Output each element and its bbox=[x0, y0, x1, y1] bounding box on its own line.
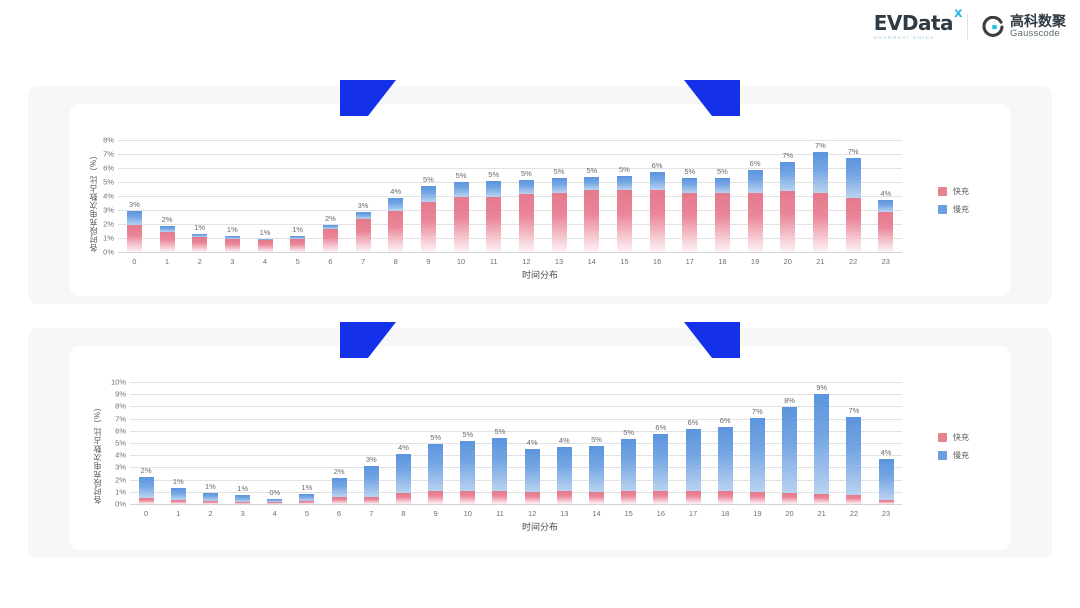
bar-segment-slow-charge[interactable] bbox=[525, 449, 540, 492]
bar-segment-slow-charge[interactable] bbox=[621, 439, 636, 491]
bar-segment-slow-charge[interactable] bbox=[486, 181, 501, 196]
bar-segment-fast-charge[interactable] bbox=[323, 229, 338, 252]
bar-segment-fast-charge[interactable] bbox=[621, 491, 636, 504]
bar-value-label: 2% bbox=[162, 215, 173, 224]
bar-segment-slow-charge[interactable] bbox=[428, 444, 443, 492]
bar-value-label: 5% bbox=[495, 427, 506, 436]
x-axis-tick: 7 bbox=[369, 509, 373, 518]
bar-value-label: 5% bbox=[430, 433, 441, 442]
bar-segment-fast-charge[interactable] bbox=[396, 493, 411, 504]
bar-segment-fast-charge[interactable] bbox=[653, 491, 668, 504]
bar-column[interactable]: 5%13 bbox=[543, 140, 576, 252]
bar-segment-slow-charge[interactable] bbox=[782, 407, 797, 493]
bar-value-label: 5% bbox=[684, 167, 695, 176]
x-axis-tick: 16 bbox=[657, 509, 665, 518]
bar-segment-fast-charge[interactable] bbox=[421, 202, 436, 252]
x-axis-tick: 21 bbox=[818, 509, 826, 518]
bar-segment-slow-charge[interactable] bbox=[589, 446, 604, 492]
bar-segment-slow-charge[interactable] bbox=[299, 494, 314, 501]
bar-stack[interactable] bbox=[682, 178, 697, 252]
bar-value-label: 5% bbox=[619, 165, 630, 174]
bar-segment-fast-charge[interactable] bbox=[879, 500, 894, 504]
bar-stack[interactable] bbox=[750, 418, 765, 504]
bar-column[interactable]: 4%23 bbox=[870, 382, 902, 504]
bar-stack[interactable] bbox=[267, 499, 282, 504]
bar-stack[interactable] bbox=[492, 438, 507, 504]
bar-column[interactable]: 1%4 bbox=[249, 140, 282, 252]
x-axis-tick: 6 bbox=[328, 257, 332, 266]
bar-segment-fast-charge[interactable] bbox=[356, 219, 371, 252]
bar-stack[interactable] bbox=[428, 444, 443, 504]
bar-stack[interactable] bbox=[356, 212, 371, 252]
bar-segment-slow-charge[interactable] bbox=[388, 198, 403, 211]
bar-segment-fast-charge[interactable] bbox=[364, 497, 379, 504]
x-axis-tick: 0 bbox=[144, 509, 148, 518]
bar-segment-fast-charge[interactable] bbox=[617, 190, 632, 252]
bar-column[interactable]: 5%17 bbox=[673, 140, 706, 252]
bar-segment-fast-charge[interactable] bbox=[780, 191, 795, 252]
bar-value-label: 3% bbox=[129, 200, 140, 209]
bar-stack[interactable] bbox=[460, 441, 475, 504]
bar-value-label: 5% bbox=[623, 428, 634, 437]
bar-segment-fast-charge[interactable] bbox=[750, 492, 765, 504]
bar-column[interactable]: 7%21 bbox=[804, 140, 837, 252]
phev-legend: 快充慢充 bbox=[938, 432, 969, 461]
x-axis-tick: 2 bbox=[198, 257, 202, 266]
bar-stack[interactable] bbox=[225, 236, 240, 252]
bar-value-label: 7% bbox=[782, 151, 793, 160]
bar-column[interactable]: 5%10 bbox=[445, 140, 478, 252]
bar-segment-fast-charge[interactable] bbox=[846, 198, 861, 252]
x-axis-tick: 15 bbox=[620, 257, 628, 266]
bar-segment-slow-charge[interactable] bbox=[682, 178, 697, 193]
bar-segment-fast-charge[interactable] bbox=[650, 190, 665, 252]
bar-segment-slow-charge[interactable] bbox=[846, 158, 861, 198]
bar-segment-fast-charge[interactable] bbox=[388, 211, 403, 252]
bar-segment-slow-charge[interactable] bbox=[396, 454, 411, 493]
bar-column[interactable]: 3%7 bbox=[355, 382, 387, 504]
bar-value-label: 5% bbox=[554, 167, 565, 176]
bar-stack[interactable] bbox=[621, 439, 636, 504]
bar-segment-fast-charge[interactable] bbox=[589, 492, 604, 504]
evdata-wordmark-text: EVData bbox=[874, 11, 953, 35]
bar-column[interactable]: 4%12 bbox=[516, 382, 548, 504]
bar-column[interactable]: 4%13 bbox=[548, 382, 580, 504]
bar-stack[interactable] bbox=[299, 494, 314, 504]
bar-stack[interactable] bbox=[584, 177, 599, 252]
bar-column[interactable]: 1%1 bbox=[162, 382, 194, 504]
bar-segment-fast-charge[interactable] bbox=[519, 194, 534, 252]
bar-segment-fast-charge[interactable] bbox=[203, 501, 218, 504]
bar-column[interactable]: 7%20 bbox=[771, 140, 804, 252]
legend-swatch bbox=[938, 205, 947, 214]
bar-column[interactable]: 1%3 bbox=[216, 140, 249, 252]
y-axis-tick: 1% bbox=[115, 487, 126, 496]
bar-stack[interactable] bbox=[813, 152, 828, 252]
bar-value-label: 5% bbox=[462, 430, 473, 439]
bar-value-label: 4% bbox=[881, 448, 892, 457]
x-axis-tick: 4 bbox=[263, 257, 267, 266]
bar-column[interactable]: 1%2 bbox=[183, 140, 216, 252]
bar-segment-fast-charge[interactable] bbox=[486, 197, 501, 252]
bar-segment-fast-charge[interactable] bbox=[332, 497, 347, 504]
bar-column[interactable]: 5%18 bbox=[706, 140, 739, 252]
bar-column[interactable]: 6%17 bbox=[677, 382, 709, 504]
bar-stack[interactable] bbox=[589, 446, 604, 504]
bar-column[interactable]: 5%11 bbox=[484, 382, 516, 504]
bar-segment-fast-charge[interactable] bbox=[782, 493, 797, 504]
bar-value-label: 6% bbox=[750, 159, 761, 168]
bar-value-label: 9% bbox=[816, 383, 827, 392]
bar-segment-fast-charge[interactable] bbox=[460, 491, 475, 504]
bar-segment-fast-charge[interactable] bbox=[584, 190, 599, 252]
bar-value-label: 1% bbox=[260, 228, 271, 237]
bar-stack[interactable] bbox=[718, 427, 733, 504]
x-axis-tick: 4 bbox=[273, 509, 277, 518]
bar-column[interactable]: 3%0 bbox=[118, 140, 151, 252]
bar-segment-slow-charge[interactable] bbox=[813, 152, 828, 193]
bar-value-label: 5% bbox=[488, 170, 499, 179]
bar-segment-slow-charge[interactable] bbox=[356, 212, 371, 219]
bar-stack[interactable] bbox=[290, 236, 305, 252]
legend-label: 快充 bbox=[953, 432, 969, 443]
bar-column[interactable]: 1%5 bbox=[281, 140, 314, 252]
bar-column[interactable]: 7%22 bbox=[837, 140, 870, 252]
bar-segment-fast-charge[interactable] bbox=[258, 240, 273, 252]
bar-segment-slow-charge[interactable] bbox=[492, 438, 507, 490]
bev-y-axis-label: 各时段充电次数占比（%） bbox=[88, 148, 99, 252]
bar-value-label: 5% bbox=[456, 171, 467, 180]
bar-segment-fast-charge[interactable] bbox=[686, 491, 701, 504]
evdata-superscript-x: x bbox=[954, 7, 962, 20]
bar-segment-slow-charge[interactable] bbox=[552, 178, 567, 193]
bar-segment-slow-charge[interactable] bbox=[846, 417, 861, 495]
bar-stack[interactable] bbox=[519, 180, 534, 252]
bar-segment-fast-charge[interactable] bbox=[127, 225, 142, 252]
bar-value-label: 5% bbox=[521, 169, 532, 178]
x-axis-tick: 18 bbox=[721, 509, 729, 518]
x-axis-tick: 12 bbox=[522, 257, 530, 266]
x-axis-tick: 6 bbox=[337, 509, 341, 518]
bar-value-label: 1% bbox=[292, 225, 303, 234]
bar-value-label: 6% bbox=[720, 416, 731, 425]
x-axis-tick: 13 bbox=[555, 257, 563, 266]
bar-column[interactable]: 5%9 bbox=[420, 382, 452, 504]
bar-column[interactable]: 5%11 bbox=[477, 140, 510, 252]
bar-segment-slow-charge[interactable] bbox=[454, 182, 469, 197]
bar-stack[interactable] bbox=[525, 449, 540, 505]
bar-stack[interactable] bbox=[454, 182, 469, 252]
bar-segment-slow-charge[interactable] bbox=[364, 466, 379, 497]
evdata-tagline: SHANGHAI CHINA bbox=[874, 35, 935, 40]
x-axis-tick: 19 bbox=[751, 257, 759, 266]
bar-segment-fast-charge[interactable] bbox=[160, 232, 175, 252]
legend-item[interactable]: 慢充 bbox=[938, 450, 969, 461]
bar-segment-fast-charge[interactable] bbox=[813, 193, 828, 252]
bar-value-label: 8% bbox=[784, 396, 795, 405]
x-axis-tick: 17 bbox=[686, 257, 694, 266]
bar-stack[interactable] bbox=[258, 239, 273, 252]
bar-value-label: 2% bbox=[334, 467, 345, 476]
bar-segment-slow-charge[interactable] bbox=[718, 427, 733, 491]
bar-column[interactable]: 2%1 bbox=[151, 140, 184, 252]
gridline: 0% bbox=[130, 504, 902, 505]
bar-stack[interactable] bbox=[192, 234, 207, 252]
bar-segment-slow-charge[interactable] bbox=[519, 180, 534, 194]
bar-segment-fast-charge[interactable] bbox=[525, 492, 540, 504]
bar-value-label: 1% bbox=[237, 484, 248, 493]
x-axis-tick: 5 bbox=[296, 257, 300, 266]
bar-column[interactable]: 5%14 bbox=[580, 382, 612, 504]
bar-column[interactable]: 5%9 bbox=[412, 140, 445, 252]
legend-label: 慢充 bbox=[953, 450, 969, 461]
bar-stack[interactable] bbox=[814, 394, 829, 504]
bar-segment-fast-charge[interactable] bbox=[552, 193, 567, 252]
bar-segment-fast-charge[interactable] bbox=[682, 193, 697, 252]
bar-stack[interactable] bbox=[421, 186, 436, 253]
x-axis-tick: 14 bbox=[592, 509, 600, 518]
bar-column[interactable]: 6%16 bbox=[645, 382, 677, 504]
y-axis-tick: 10% bbox=[111, 378, 126, 387]
bar-value-label: 2% bbox=[325, 214, 336, 223]
y-axis-tick: 8% bbox=[115, 402, 126, 411]
bar-column[interactable]: 4%8 bbox=[379, 140, 412, 252]
bar-column[interactable]: 2%6 bbox=[314, 140, 347, 252]
y-axis-tick: 4% bbox=[103, 192, 114, 201]
bar-column[interactable]: 5%15 bbox=[608, 140, 641, 252]
bar-value-label: 2% bbox=[141, 466, 152, 475]
bar-stack[interactable] bbox=[782, 407, 797, 504]
x-axis-tick: 22 bbox=[849, 257, 857, 266]
bar-value-label: 7% bbox=[815, 141, 826, 150]
bar-column[interactable]: 3%7 bbox=[347, 140, 380, 252]
bar-stack[interactable] bbox=[653, 434, 668, 504]
y-axis-tick: 7% bbox=[103, 150, 114, 159]
bar-stack[interactable] bbox=[235, 495, 250, 504]
bar-column[interactable]: 5%15 bbox=[613, 382, 645, 504]
brand-bar: EVData x SHANGHAI CHINA 高科数聚 Gausscode bbox=[874, 13, 1066, 40]
bar-segment-slow-charge[interactable] bbox=[879, 459, 894, 500]
bar-segment-slow-charge[interactable] bbox=[139, 477, 154, 498]
bar-segment-slow-charge[interactable] bbox=[878, 200, 893, 213]
bar-stack[interactable] bbox=[879, 459, 894, 504]
bar-stack[interactable] bbox=[715, 178, 730, 252]
x-axis-tick: 14 bbox=[588, 257, 596, 266]
x-axis-tick: 23 bbox=[882, 257, 890, 266]
bar-value-label: 7% bbox=[848, 406, 859, 415]
bev-x-axis-label: 时间分布 bbox=[522, 268, 558, 281]
bar-value-label: 4% bbox=[390, 187, 401, 196]
gridline: 0% bbox=[118, 252, 902, 253]
bar-segment-slow-charge[interactable] bbox=[421, 186, 436, 203]
bar-column[interactable]: 7%19 bbox=[741, 382, 773, 504]
bar-stack[interactable] bbox=[780, 162, 795, 252]
bar-column[interactable]: 4%23 bbox=[869, 140, 902, 252]
bar-column[interactable]: 9%21 bbox=[806, 382, 838, 504]
legend-label: 快充 bbox=[953, 186, 969, 197]
bar-segment-slow-charge[interactable] bbox=[650, 172, 665, 189]
bar-stack[interactable] bbox=[486, 181, 501, 252]
bar-segment-fast-charge[interactable] bbox=[171, 500, 186, 504]
legend-item[interactable]: 慢充 bbox=[938, 204, 969, 215]
bar-stack[interactable] bbox=[617, 176, 632, 252]
gausscode-name-cn: 高科数聚 bbox=[1010, 14, 1066, 29]
bar-value-label: 1% bbox=[173, 477, 184, 486]
bar-column[interactable]: 1%5 bbox=[291, 382, 323, 504]
gausscode-name-en: Gausscode bbox=[1010, 29, 1066, 39]
y-axis-tick: 6% bbox=[115, 426, 126, 435]
legend-swatch bbox=[938, 187, 947, 196]
bar-value-label: 4% bbox=[527, 438, 538, 447]
bar-value-label: 1% bbox=[302, 483, 313, 492]
bar-stack[interactable] bbox=[139, 477, 154, 504]
bar-segment-fast-charge[interactable] bbox=[192, 237, 207, 252]
legend-swatch bbox=[938, 451, 947, 460]
bar-segment-slow-charge[interactable] bbox=[814, 394, 829, 494]
x-axis-tick: 22 bbox=[850, 509, 858, 518]
x-axis-tick: 3 bbox=[241, 509, 245, 518]
bar-segment-fast-charge[interactable] bbox=[225, 239, 240, 252]
bar-value-label: 5% bbox=[591, 435, 602, 444]
bar-stack[interactable] bbox=[748, 170, 763, 252]
bar-value-label: 5% bbox=[586, 166, 597, 175]
bar-stack[interactable] bbox=[846, 417, 861, 504]
bar-segment-slow-charge[interactable] bbox=[715, 178, 730, 193]
bar-segment-slow-charge[interactable] bbox=[460, 441, 475, 491]
bar-segment-fast-charge[interactable] bbox=[718, 491, 733, 504]
bar-stack[interactable] bbox=[878, 200, 893, 253]
x-axis-tick: 9 bbox=[434, 509, 438, 518]
bar-segment-fast-charge[interactable] bbox=[846, 495, 861, 504]
bar-segment-slow-charge[interactable] bbox=[127, 211, 142, 224]
bar-segment-fast-charge[interactable] bbox=[299, 501, 314, 504]
x-axis-tick: 11 bbox=[496, 509, 504, 518]
x-axis-tick: 23 bbox=[882, 509, 890, 518]
bar-segment-fast-charge[interactable] bbox=[748, 193, 763, 252]
bar-segment-slow-charge[interactable] bbox=[780, 162, 795, 191]
bar-column[interactable]: 6%16 bbox=[641, 140, 674, 252]
bar-segment-slow-charge[interactable] bbox=[750, 418, 765, 492]
x-axis-tick: 2 bbox=[208, 509, 212, 518]
x-axis-tick: 17 bbox=[689, 509, 697, 518]
bar-column[interactable]: 6%19 bbox=[739, 140, 772, 252]
bar-column[interactable]: 5%10 bbox=[452, 382, 484, 504]
bar-segment-fast-charge[interactable] bbox=[290, 239, 305, 252]
bar-column[interactable]: 4%8 bbox=[387, 382, 419, 504]
bar-segment-fast-charge[interactable] bbox=[235, 502, 250, 504]
x-axis-tick: 10 bbox=[464, 509, 472, 518]
bar-segment-slow-charge[interactable] bbox=[584, 177, 599, 190]
phev-plot-area: 0%1%2%3%4%5%6%7%8%9%10%2%01%11%21%30%41%… bbox=[130, 382, 902, 504]
bar-segment-fast-charge[interactable] bbox=[492, 491, 507, 504]
bar-segment-fast-charge[interactable] bbox=[878, 212, 893, 252]
bar-segment-slow-charge[interactable] bbox=[332, 478, 347, 497]
bar-value-label: 1% bbox=[194, 223, 205, 232]
x-axis-tick: 10 bbox=[457, 257, 465, 266]
x-axis-tick: 21 bbox=[816, 257, 824, 266]
y-axis-tick: 8% bbox=[103, 136, 114, 145]
legend-item[interactable]: 快充 bbox=[938, 432, 969, 443]
bar-stack[interactable] bbox=[686, 429, 701, 504]
bar-segment-fast-charge[interactable] bbox=[428, 491, 443, 504]
bar-stack[interactable] bbox=[203, 493, 218, 504]
bar-stack[interactable] bbox=[127, 211, 142, 252]
x-axis-tick: 1 bbox=[165, 257, 169, 266]
x-axis-tick: 11 bbox=[490, 257, 498, 266]
bar-segment-slow-charge[interactable] bbox=[686, 429, 701, 491]
y-axis-tick: 3% bbox=[103, 206, 114, 215]
bar-segment-fast-charge[interactable] bbox=[715, 193, 730, 252]
gausscode-text: 高科数聚 Gausscode bbox=[1010, 14, 1066, 39]
x-axis-tick: 20 bbox=[785, 509, 793, 518]
x-axis-tick: 1 bbox=[176, 509, 180, 518]
y-axis-tick: 1% bbox=[103, 234, 114, 243]
bar-segment-fast-charge[interactable] bbox=[267, 502, 282, 504]
bar-segment-slow-charge[interactable] bbox=[203, 493, 218, 501]
bar-stack[interactable] bbox=[846, 158, 861, 252]
bar-stack[interactable] bbox=[323, 225, 338, 252]
bev-plot-area: 0%1%2%3%4%5%6%7%8%3%02%11%21%31%41%52%63… bbox=[118, 140, 902, 252]
bar-stack[interactable] bbox=[160, 226, 175, 252]
bar-column[interactable]: 1%2 bbox=[194, 382, 226, 504]
bar-stack[interactable] bbox=[557, 447, 572, 504]
bar-stack[interactable] bbox=[396, 454, 411, 504]
bar-column[interactable]: 8%20 bbox=[773, 382, 805, 504]
x-axis-tick: 8 bbox=[394, 257, 398, 266]
x-axis-tick: 18 bbox=[718, 257, 726, 266]
bar-segment-slow-charge[interactable] bbox=[235, 495, 250, 502]
bar-segment-fast-charge[interactable] bbox=[454, 197, 469, 252]
bar-segment-slow-charge[interactable] bbox=[557, 447, 572, 492]
x-axis-tick: 5 bbox=[305, 509, 309, 518]
bar-stack[interactable] bbox=[332, 478, 347, 504]
bar-column[interactable]: 2%6 bbox=[323, 382, 355, 504]
bar-stack[interactable] bbox=[650, 172, 665, 252]
bar-stack[interactable] bbox=[364, 466, 379, 504]
legend-item[interactable]: 快充 bbox=[938, 186, 969, 197]
bar-stack[interactable] bbox=[388, 198, 403, 252]
y-axis-tick: 0% bbox=[103, 248, 114, 257]
bar-value-label: 5% bbox=[717, 167, 728, 176]
bar-column[interactable]: 5%14 bbox=[575, 140, 608, 252]
bar-value-label: 5% bbox=[423, 175, 434, 184]
bar-segment-fast-charge[interactable] bbox=[557, 491, 572, 504]
bar-column[interactable]: 0%4 bbox=[259, 382, 291, 504]
bar-segment-slow-charge[interactable] bbox=[653, 434, 668, 491]
y-axis-tick: 7% bbox=[115, 414, 126, 423]
brand-divider bbox=[967, 14, 968, 40]
bar-segment-slow-charge[interactable] bbox=[171, 488, 186, 500]
bar-value-label: 6% bbox=[655, 423, 666, 432]
bar-column[interactable]: 5%12 bbox=[510, 140, 543, 252]
bar-value-label: 3% bbox=[366, 455, 377, 464]
bar-segment-slow-charge[interactable] bbox=[748, 170, 763, 192]
bar-stack[interactable] bbox=[552, 178, 567, 252]
page-header: EVData x SHANGHAI CHINA 高科数聚 Gausscode bbox=[0, 0, 1080, 62]
bar-column[interactable]: 6%18 bbox=[709, 382, 741, 504]
bar-column[interactable]: 1%3 bbox=[227, 382, 259, 504]
bar-stack[interactable] bbox=[171, 488, 186, 504]
bar-segment-slow-charge[interactable] bbox=[617, 176, 632, 189]
bar-segment-fast-charge[interactable] bbox=[814, 494, 829, 504]
phev-x-axis-label: 时间分布 bbox=[522, 520, 558, 533]
x-axis-tick: 3 bbox=[230, 257, 234, 266]
bar-segment-fast-charge[interactable] bbox=[139, 498, 154, 504]
bar-value-label: 1% bbox=[227, 225, 238, 234]
bar-column[interactable]: 7%22 bbox=[838, 382, 870, 504]
x-axis-tick: 0 bbox=[132, 257, 136, 266]
bar-column[interactable]: 2%0 bbox=[130, 382, 162, 504]
